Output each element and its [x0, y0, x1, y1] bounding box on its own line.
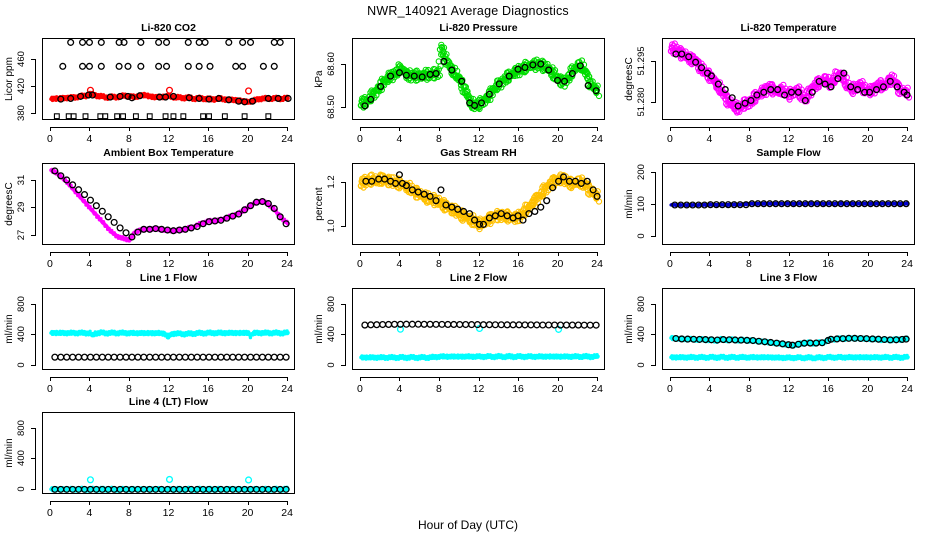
y-tick-mark — [341, 365, 346, 366]
x-tick-mark — [399, 127, 400, 131]
x-tick-mark — [208, 377, 209, 381]
x-tick-mark — [248, 377, 249, 381]
x-tick-label: 8 — [424, 258, 454, 270]
y-tick-mark — [651, 61, 656, 62]
x-tick-mark — [670, 127, 671, 131]
x-tick-mark — [907, 377, 908, 381]
x-tick-mark — [399, 252, 400, 256]
series-open-square — [54, 114, 270, 119]
x-tick-label: 20 — [233, 383, 263, 395]
x-tick-mark — [360, 252, 361, 256]
y-tick-label: 1.0 — [326, 209, 338, 243]
y-axis-label: ml/min — [4, 294, 16, 364]
x-tick-label: 20 — [853, 383, 883, 395]
x-tick-label: 8 — [734, 383, 764, 395]
x-tick-label: 16 — [813, 133, 843, 145]
x-tick-mark — [287, 252, 288, 256]
x-tick-mark — [89, 377, 90, 381]
x-tick-label: 12 — [774, 133, 804, 145]
y-tick-mark — [31, 304, 36, 305]
y-tick-mark — [651, 365, 656, 366]
plot-panel-6: Sample Flow0100200ml/min04812162024 — [622, 147, 921, 277]
y-tick-label: 0 — [636, 219, 648, 253]
x-tick-mark — [50, 377, 51, 381]
y-tick-mark — [31, 207, 36, 208]
y-tick-label: 68.60 — [326, 47, 338, 81]
x-tick-mark — [89, 252, 90, 256]
y-axis-label: kPa — [314, 44, 326, 114]
x-tick-mark — [208, 127, 209, 131]
x-tick-mark — [597, 127, 598, 131]
x-tick-label: 0 — [345, 133, 375, 145]
x-tick-label: 16 — [193, 133, 223, 145]
plot-area — [662, 288, 915, 370]
panel-title: Li-820 Temperature — [662, 22, 915, 34]
x-tick-label: 16 — [503, 133, 533, 145]
series-open-circle — [60, 63, 277, 69]
series-open-circle — [88, 87, 252, 93]
x-tick-label: 16 — [193, 383, 223, 395]
panel-title: Ambient Box Temperature — [42, 147, 295, 159]
series-layer — [353, 289, 605, 370]
x-tick-mark — [399, 377, 400, 381]
plot-area — [662, 163, 915, 245]
y-tick-mark — [651, 236, 656, 237]
x-tick-label: 8 — [734, 133, 764, 145]
x-tick-mark — [518, 377, 519, 381]
y-tick-mark — [341, 334, 346, 335]
y-tick-mark — [31, 180, 36, 181]
x-tick-mark — [248, 252, 249, 256]
x-tick-label: 16 — [503, 383, 533, 395]
x-tick-mark — [868, 377, 869, 381]
series-layer — [43, 289, 295, 370]
y-tick-label: 0 — [636, 348, 648, 382]
panel-title: Gas Stream RH — [352, 147, 605, 159]
x-tick-label: 24 — [892, 258, 922, 270]
x-tick-label: 8 — [114, 383, 144, 395]
y-tick-label: 0 — [16, 472, 28, 506]
y-tick-label: 0 — [16, 348, 28, 382]
x-tick-mark — [789, 127, 790, 131]
x-tick-label: 12 — [154, 258, 184, 270]
y-tick-label: 460 — [16, 42, 28, 76]
series-dense-band — [669, 354, 910, 362]
series-layer — [43, 164, 295, 245]
x-tick-mark — [169, 501, 170, 505]
x-tick-label: 24 — [272, 258, 302, 270]
x-tick-mark — [789, 377, 790, 381]
y-tick-label: 68.50 — [326, 90, 338, 124]
x-tick-mark — [828, 127, 829, 131]
x-tick-label: 16 — [193, 258, 223, 270]
plot-area — [42, 412, 295, 494]
y-tick-label: 200 — [636, 155, 648, 189]
x-tick-label: 0 — [655, 258, 685, 270]
x-tick-label: 24 — [892, 383, 922, 395]
x-tick-mark — [868, 127, 869, 131]
y-axis-line — [345, 182, 346, 225]
x-tick-mark — [129, 377, 130, 381]
x-tick-mark — [248, 127, 249, 131]
x-tick-label: 0 — [35, 133, 65, 145]
x-tick-mark — [129, 252, 130, 256]
x-tick-mark — [670, 252, 671, 256]
x-tick-mark — [709, 377, 710, 381]
x-tick-label: 20 — [543, 383, 573, 395]
x-tick-label: 24 — [582, 258, 612, 270]
y-tick-label: 800 — [636, 287, 648, 321]
y-tick-mark — [341, 226, 346, 227]
x-tick-mark — [828, 252, 829, 256]
plot-panel-2: Li-820 Pressure68.5068.60kPa04812162024 — [312, 22, 611, 152]
y-axis-label: ml/min — [4, 418, 16, 488]
series-layer — [43, 39, 295, 120]
x-tick-label: 16 — [813, 383, 843, 395]
x-tick-label: 24 — [582, 133, 612, 145]
x-tick-label: 4 — [694, 133, 724, 145]
figure-title: NWR_140921 Average Diagnostics — [0, 4, 936, 18]
y-tick-mark — [31, 59, 36, 60]
y-tick-mark — [651, 334, 656, 335]
x-tick-mark — [169, 252, 170, 256]
x-tick-label: 20 — [543, 133, 573, 145]
x-tick-label: 20 — [233, 133, 263, 145]
x-tick-mark — [439, 377, 440, 381]
x-tick-mark — [208, 501, 209, 505]
x-tick-mark — [50, 501, 51, 505]
y-tick-mark — [31, 489, 36, 490]
x-tick-mark — [439, 252, 440, 256]
series-layer — [353, 39, 605, 120]
x-tick-label: 4 — [384, 133, 414, 145]
y-tick-mark — [651, 172, 656, 173]
x-tick-mark — [749, 127, 750, 131]
diagnostics-figure: NWR_140921 Average Diagnostics Li-820 CO… — [0, 0, 936, 540]
plot-area — [42, 38, 295, 120]
panel-title: Line 3 Flow — [662, 272, 915, 284]
x-tick-mark — [479, 127, 480, 131]
x-tick-mark — [558, 252, 559, 256]
plot-panel-4: Ambient Box Temperature272931degreesC048… — [2, 147, 301, 277]
x-tick-label: 0 — [35, 383, 65, 395]
y-tick-label: 31 — [16, 163, 28, 197]
plot-area — [352, 288, 605, 370]
y-axis-label: degreesC — [624, 44, 636, 114]
x-tick-mark — [169, 377, 170, 381]
x-tick-mark — [208, 252, 209, 256]
series-layer — [43, 413, 295, 494]
x-tick-label: 4 — [694, 383, 724, 395]
plot-panel-5: Gas Stream RH1.01.2percent04812162024 — [312, 147, 611, 277]
plot-panel-10: Line 4 (LT) Flow0400800ml/min04812162024 — [2, 396, 301, 526]
x-tick-label: 12 — [774, 383, 804, 395]
y-tick-label: 800 — [16, 287, 28, 321]
y-axis-label: ml/min — [624, 169, 636, 239]
x-tick-label: 16 — [503, 258, 533, 270]
y-tick-mark — [31, 113, 36, 114]
y-axis-line — [345, 64, 346, 107]
y-tick-mark — [651, 102, 656, 103]
x-tick-label: 20 — [233, 258, 263, 270]
y-tick-mark — [651, 204, 656, 205]
x-tick-label: 12 — [774, 258, 804, 270]
x-tick-mark — [828, 377, 829, 381]
y-tick-label: 400 — [16, 441, 28, 475]
y-tick-mark — [31, 458, 36, 459]
x-tick-mark — [50, 252, 51, 256]
x-tick-label: 8 — [114, 133, 144, 145]
series-dense-band — [359, 353, 600, 361]
x-tick-label: 8 — [424, 383, 454, 395]
y-tick-mark — [31, 365, 36, 366]
x-tick-label: 0 — [345, 383, 375, 395]
x-tick-mark — [907, 127, 908, 131]
plot-panel-9: Line 3 Flow0400800ml/min04812162024 — [622, 272, 921, 402]
x-tick-label: 16 — [813, 258, 843, 270]
x-tick-label: 12 — [464, 133, 494, 145]
x-tick-label: 24 — [272, 383, 302, 395]
plot-panel-7: Line 1 Flow0400800ml/min04812162024 — [2, 272, 301, 402]
x-tick-mark — [749, 252, 750, 256]
y-tick-mark — [31, 428, 36, 429]
y-tick-mark — [341, 64, 346, 65]
x-tick-mark — [518, 127, 519, 131]
x-tick-label: 12 — [464, 383, 494, 395]
y-tick-mark — [341, 304, 346, 305]
x-tick-label: 24 — [892, 133, 922, 145]
series-dense-band — [49, 329, 290, 339]
y-tick-label: 400 — [636, 317, 648, 351]
global-x-axis-label: Hour of Day (UTC) — [0, 518, 936, 532]
x-tick-label: 4 — [384, 258, 414, 270]
x-tick-mark — [287, 501, 288, 505]
y-tick-label: 51.280 — [636, 85, 648, 119]
x-tick-mark — [129, 127, 130, 131]
series-open-circle — [672, 201, 909, 208]
y-tick-label: 400 — [326, 317, 338, 351]
series-layer — [353, 164, 605, 245]
y-axis-label: ml/min — [314, 294, 326, 364]
panel-title: Li-820 CO2 — [42, 22, 295, 34]
x-tick-mark — [479, 252, 480, 256]
x-tick-mark — [789, 252, 790, 256]
x-tick-label: 4 — [74, 383, 104, 395]
plot-area — [662, 38, 915, 120]
x-tick-label: 12 — [154, 383, 184, 395]
y-tick-label: 51.295 — [636, 44, 648, 78]
x-tick-mark — [597, 377, 598, 381]
x-tick-label: 4 — [74, 133, 104, 145]
y-tick-label: 800 — [16, 411, 28, 445]
panel-title: Li-820 Pressure — [352, 22, 605, 34]
x-tick-label: 20 — [543, 258, 573, 270]
x-tick-mark — [89, 127, 90, 131]
x-tick-mark — [558, 127, 559, 131]
x-tick-label: 8 — [734, 258, 764, 270]
panel-title: Line 1 Flow — [42, 272, 295, 284]
series-open-circle — [68, 40, 283, 46]
y-tick-label: 0 — [326, 348, 338, 382]
x-tick-label: 12 — [154, 133, 184, 145]
x-tick-mark — [749, 377, 750, 381]
x-tick-label: 8 — [424, 133, 454, 145]
y-tick-label: 400 — [16, 317, 28, 351]
series-layer — [663, 164, 915, 245]
y-tick-label: 800 — [326, 287, 338, 321]
x-tick-mark — [89, 501, 90, 505]
series-layer — [663, 39, 915, 120]
x-tick-mark — [709, 127, 710, 131]
y-tick-mark — [31, 86, 36, 87]
x-tick-mark — [287, 127, 288, 131]
x-tick-mark — [479, 377, 480, 381]
x-tick-mark — [360, 127, 361, 131]
series-layer — [663, 289, 915, 370]
y-axis-label: ml/min — [624, 294, 636, 364]
x-tick-label: 0 — [655, 383, 685, 395]
x-tick-label: 8 — [114, 258, 144, 270]
plot-area — [352, 163, 605, 245]
x-tick-label: 4 — [384, 383, 414, 395]
plot-area — [42, 288, 295, 370]
y-tick-mark — [31, 235, 36, 236]
series-open-circle — [668, 41, 911, 115]
x-tick-mark — [287, 377, 288, 381]
x-tick-mark — [360, 377, 361, 381]
x-tick-mark — [597, 252, 598, 256]
y-axis-line — [655, 61, 656, 102]
x-tick-mark — [558, 377, 559, 381]
x-tick-mark — [439, 127, 440, 131]
series-open-circle — [88, 477, 252, 483]
panel-title: Line 4 (LT) Flow — [42, 396, 295, 408]
x-tick-label: 0 — [35, 258, 65, 270]
y-tick-mark — [651, 304, 656, 305]
y-tick-mark — [341, 107, 346, 108]
x-tick-mark — [248, 501, 249, 505]
x-tick-mark — [868, 252, 869, 256]
series-open-circle — [358, 42, 601, 111]
plot-panel-8: Line 2 Flow0400800ml/min04812162024 — [312, 272, 611, 402]
x-tick-mark — [50, 127, 51, 131]
x-tick-label: 4 — [694, 258, 724, 270]
series-open-circle — [362, 321, 599, 328]
y-tick-label: 100 — [636, 187, 648, 221]
y-axis-label: Licor ppm — [4, 44, 16, 114]
y-axis-label: degreesC — [4, 169, 16, 239]
x-tick-label: 0 — [345, 258, 375, 270]
plot-area — [42, 163, 295, 245]
x-tick-mark — [709, 252, 710, 256]
plot-area — [352, 38, 605, 120]
x-tick-mark — [670, 377, 671, 381]
panel-title: Line 2 Flow — [352, 272, 605, 284]
x-tick-label: 24 — [582, 383, 612, 395]
y-tick-mark — [341, 182, 346, 183]
x-tick-mark — [169, 127, 170, 131]
x-tick-label: 20 — [853, 133, 883, 145]
x-tick-mark — [518, 252, 519, 256]
series-open-circle — [52, 354, 289, 360]
y-axis-label: percent — [314, 169, 326, 239]
x-tick-label: 20 — [853, 258, 883, 270]
y-tick-label: 1.2 — [326, 165, 338, 199]
panel-title: Sample Flow — [662, 147, 915, 159]
x-tick-mark — [129, 501, 130, 505]
x-tick-label: 0 — [655, 133, 685, 145]
x-tick-label: 12 — [464, 258, 494, 270]
plot-panel-1: Li-820 CO2380420460Licor ppm04812162024 — [2, 22, 301, 152]
plot-panel-3: Li-820 Temperature51.28051.295degreesC04… — [622, 22, 921, 152]
x-tick-label: 4 — [74, 258, 104, 270]
y-tick-mark — [31, 334, 36, 335]
x-tick-label: 24 — [272, 133, 302, 145]
x-tick-mark — [907, 252, 908, 256]
